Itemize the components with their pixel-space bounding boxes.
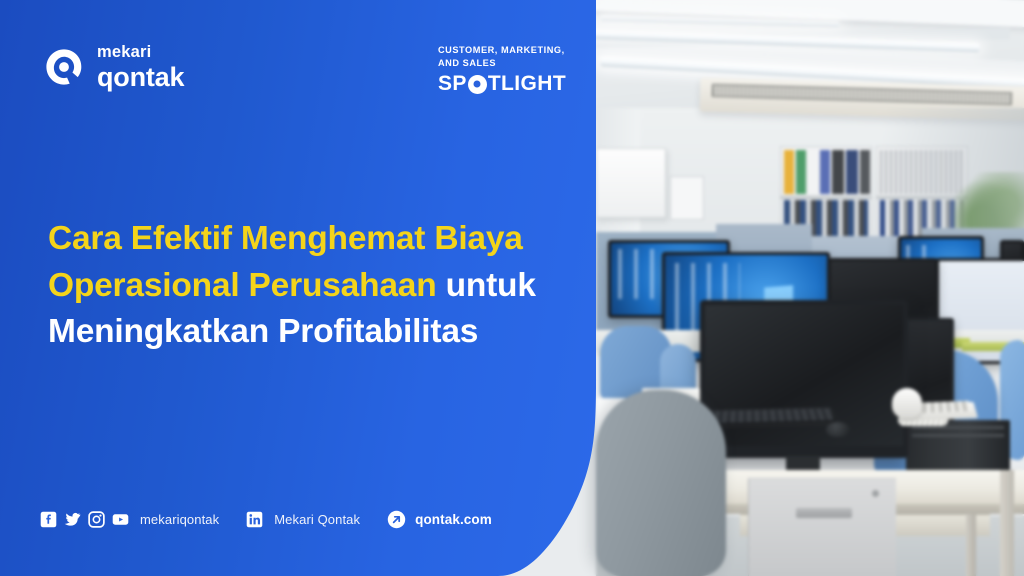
desk-leg <box>966 514 976 576</box>
spotlight-title: SP TLIGHT <box>438 72 566 96</box>
mekari-qontak-logo[interactable]: mekari qontak <box>44 44 184 91</box>
desktop-icons <box>618 249 664 299</box>
logo-mekari-text: mekari <box>97 44 184 61</box>
social-handle[interactable]: mekariqontak <box>140 512 219 527</box>
binder <box>808 150 818 194</box>
facebook-icon[interactable] <box>40 511 57 528</box>
footer-social-group: mekariqontak <box>40 511 219 528</box>
tower-vent <box>912 434 1004 437</box>
logo-qontak-text: qontak <box>97 64 184 91</box>
headline-plain-line3: Meningkatkan Profitabilitas <box>48 313 478 350</box>
telephone-handset <box>892 388 922 418</box>
binder <box>784 150 794 194</box>
headline-plain-line2: untuk <box>436 267 535 304</box>
desk-leg <box>1000 470 1014 576</box>
foreground-monitor <box>700 300 908 458</box>
spotlight-eyebrow: CUSTOMER, MARKETING, AND SALES <box>438 44 566 69</box>
cabinet-handle <box>796 508 852 518</box>
footer-website-group: qontak.com <box>387 510 492 529</box>
computer-mouse <box>826 422 850 437</box>
social-icon-row <box>40 511 129 528</box>
binder <box>820 150 830 194</box>
foreground-office-chair <box>596 390 726 576</box>
tower-vent <box>912 426 1004 429</box>
spotlight-eyebrow-line1: CUSTOMER, MARKETING, <box>438 44 566 57</box>
binder <box>846 150 858 194</box>
footer-social-bar: mekariqontak Mekari Qontak qontak.com <box>40 510 492 529</box>
spotlight-title-part2: TLIGHT <box>488 72 566 96</box>
instagram-icon[interactable] <box>88 511 105 528</box>
shelf-divider <box>780 196 872 199</box>
logo-wordmark: mekari qontak <box>97 44 184 91</box>
cabinet-lock-icon <box>872 490 879 497</box>
footer-linkedin-group: Mekari Qontak <box>246 511 360 528</box>
spotlight-title-part1: SP <box>438 72 467 96</box>
spotlight-target-o-icon <box>468 75 487 94</box>
whiteboard <box>596 148 666 218</box>
spotlight-badge: CUSTOMER, MARKETING, AND SALES SP TLIGHT <box>438 44 566 96</box>
monitor-screen <box>705 305 903 446</box>
youtube-icon[interactable] <box>112 511 129 528</box>
wall-poster <box>670 176 704 220</box>
linkedin-label[interactable]: Mekari Qontak <box>274 512 360 527</box>
binder <box>860 150 870 194</box>
qontak-q-mark-icon <box>44 47 84 87</box>
external-link-arrow-icon[interactable] <box>387 510 406 529</box>
linkedin-icon[interactable] <box>246 511 263 528</box>
headline-highlight-line2: Operasional Perusahaan <box>48 267 436 304</box>
twitter-icon[interactable] <box>64 511 81 528</box>
website-label[interactable]: qontak.com <box>415 512 492 527</box>
binder <box>832 150 844 194</box>
page-title: Cara Efektif Menghemat Biaya Operasional… <box>48 216 578 356</box>
spotlight-eyebrow-line2: AND SALES <box>438 57 566 70</box>
headline-highlight-line1: Cara Efektif Menghemat Biaya <box>48 220 523 257</box>
binder <box>796 150 806 194</box>
